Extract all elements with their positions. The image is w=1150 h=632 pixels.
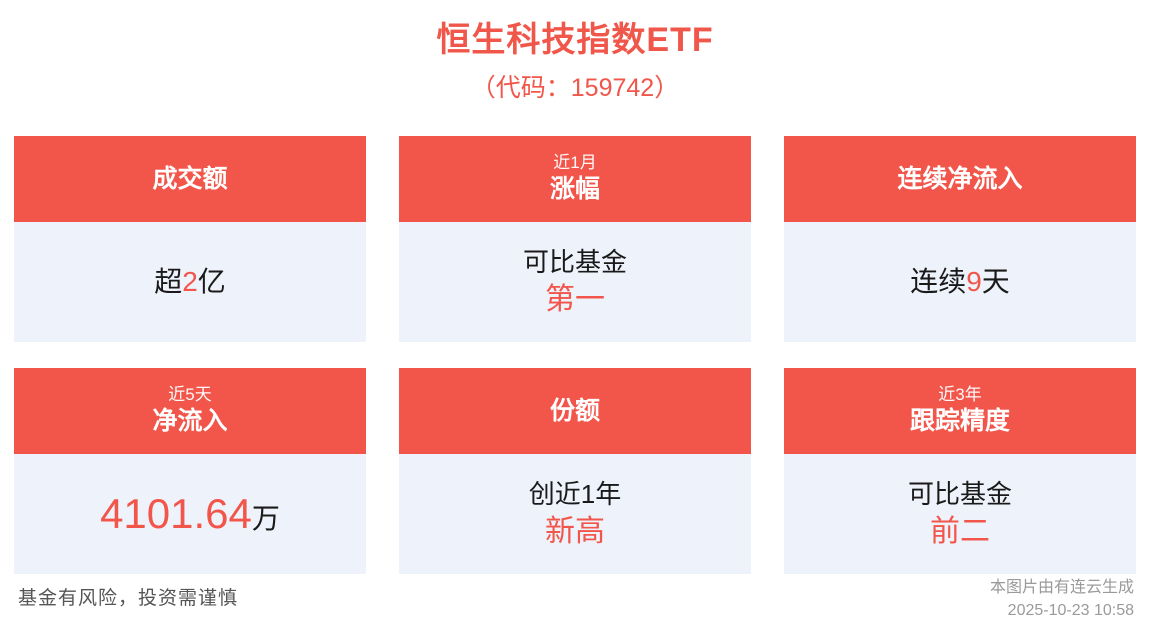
card-body: 可比基金 第一 bbox=[399, 222, 751, 342]
timestamp: 2025-10-23 10:58 bbox=[990, 599, 1134, 622]
card-value-line1: 创近1年 bbox=[529, 477, 621, 512]
card-body: 创近1年 新高 bbox=[399, 454, 751, 574]
card-body: 可比基金 前二 bbox=[784, 454, 1136, 574]
card-value: 4101.64万 bbox=[100, 491, 280, 537]
card-body: 连续9天 bbox=[784, 222, 1136, 342]
header: 恒生科技指数ETF （代码：159742） bbox=[0, 0, 1150, 105]
source-text: 本图片由有连云生成 bbox=[990, 576, 1134, 599]
card-value-suffix: 亿 bbox=[198, 266, 226, 297]
card-value-line1: 可比基金 bbox=[908, 477, 1012, 512]
card-value-prefix: 连续 bbox=[910, 266, 966, 297]
card-header: 近3年 跟踪精度 bbox=[784, 368, 1136, 454]
page-title: 恒生科技指数ETF bbox=[0, 18, 1150, 62]
infographic-page: 恒生科技指数ETF （代码：159742） 成交额 超2亿 近1月 涨幅 可比基… bbox=[0, 0, 1150, 632]
card-value: 超2亿 bbox=[154, 264, 226, 300]
card-header-title: 份额 bbox=[550, 395, 600, 428]
card-body: 4101.64万 bbox=[14, 454, 366, 574]
card-value-line2: 新高 bbox=[545, 512, 605, 551]
card-header-title: 净流入 bbox=[152, 405, 227, 438]
card-value-line1: 可比基金 bbox=[523, 245, 627, 280]
card-header-title: 跟踪精度 bbox=[910, 405, 1010, 438]
page-subtitle: （代码：159742） bbox=[0, 72, 1150, 105]
card-header-period: 近3年 bbox=[938, 384, 981, 405]
stat-card-tracking-accuracy: 近3年 跟踪精度 可比基金 前二 bbox=[784, 368, 1136, 574]
card-value-line2: 第一 bbox=[545, 280, 605, 319]
card-header-title: 连续净流入 bbox=[897, 163, 1022, 196]
stat-card-grid: 成交额 超2亿 近1月 涨幅 可比基金 第一 连续净流入 连续9天 bbox=[14, 136, 1136, 574]
card-value-suffix: 天 bbox=[982, 266, 1010, 297]
card-value-number: 9 bbox=[966, 266, 982, 297]
card-header: 近1月 涨幅 bbox=[399, 136, 751, 222]
footer-source-block: 本图片由有连云生成 2025-10-23 10:58 bbox=[990, 576, 1134, 622]
card-header-title: 涨幅 bbox=[550, 173, 600, 206]
stat-card-share: 份额 创近1年 新高 bbox=[399, 368, 751, 574]
stat-card-five-day-inflow: 近5天 净流入 4101.64万 bbox=[14, 368, 366, 574]
footer: 基金有风险，投资需谨慎 本图片由有连云生成 2025-10-23 10:58 bbox=[0, 562, 1150, 632]
stat-card-turnover: 成交额 超2亿 bbox=[14, 136, 366, 342]
card-value-line2: 前二 bbox=[930, 512, 990, 551]
card-header: 近5天 净流入 bbox=[14, 368, 366, 454]
card-header-period: 近5天 bbox=[168, 384, 211, 405]
card-value: 连续9天 bbox=[910, 264, 1010, 300]
card-header-title: 成交额 bbox=[152, 163, 227, 196]
stat-card-monthly-gain: 近1月 涨幅 可比基金 第一 bbox=[399, 136, 751, 342]
card-value-unit: 万 bbox=[252, 503, 280, 534]
card-header-period: 近1月 bbox=[553, 152, 596, 173]
card-header: 连续净流入 bbox=[784, 136, 1136, 222]
card-header: 成交额 bbox=[14, 136, 366, 222]
card-header: 份额 bbox=[399, 368, 751, 454]
risk-disclaimer: 基金有风险，投资需谨慎 bbox=[18, 583, 238, 610]
card-value-prefix: 超 bbox=[154, 266, 182, 297]
card-value-number: 2 bbox=[182, 266, 198, 297]
stat-card-consecutive-inflow: 连续净流入 连续9天 bbox=[784, 136, 1136, 342]
card-body: 超2亿 bbox=[14, 222, 366, 342]
card-value-number: 4101.64 bbox=[100, 490, 252, 537]
